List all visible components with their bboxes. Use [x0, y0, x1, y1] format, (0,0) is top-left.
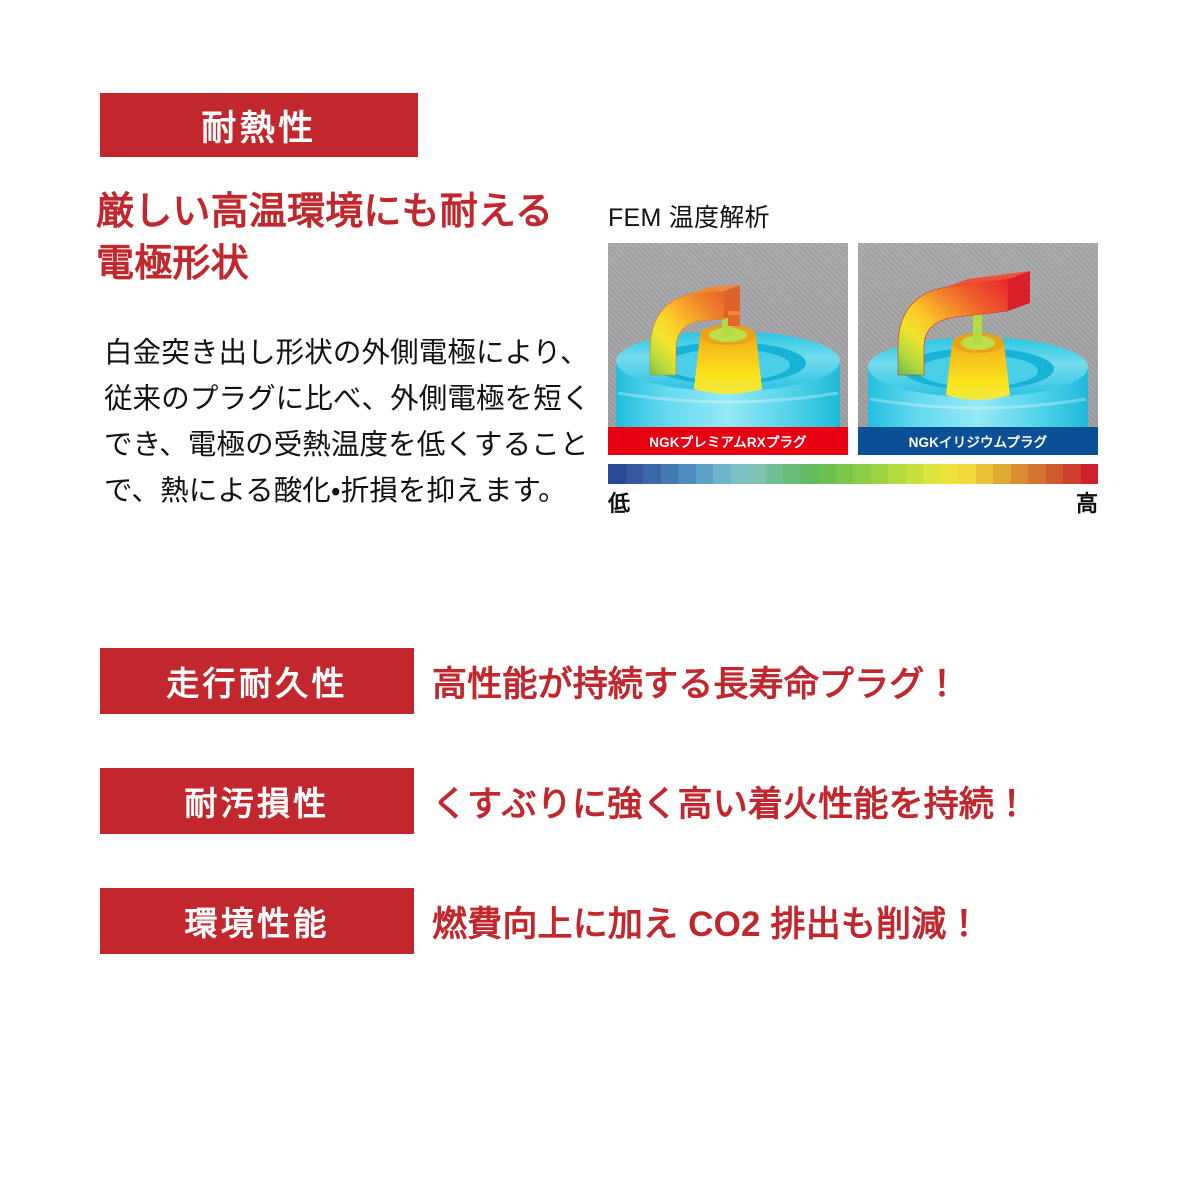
- scale-swatch-24: [1028, 464, 1046, 484]
- body-line-2: 従来のプラグに比べ、外側電極を短く: [104, 376, 594, 422]
- scale-swatch-10: [783, 464, 801, 484]
- body-line-3: でき、電極の受熱温度を低くすること: [104, 422, 594, 468]
- scale-swatch-5: [696, 464, 714, 484]
- feature-row-durability: 走行耐久性 高性能が持続する長寿命プラグ！: [100, 648, 960, 714]
- body-line-4: で、熱による酸化・折損を抑えます。: [104, 468, 594, 514]
- scale-swatch-25: [1046, 464, 1064, 484]
- scale-swatch-21: [976, 464, 994, 484]
- scale-swatch-12: [818, 464, 836, 484]
- temperature-scale: 低 高: [608, 464, 1098, 518]
- fem-panel-premium-rx: NGKプレミアムRXプラグ: [608, 243, 848, 455]
- feature-row-fouling-resistance: 耐汚損性 くすぶりに強く高い着火性能を持続！: [100, 768, 1029, 834]
- scale-swatch-23: [1011, 464, 1029, 484]
- fem-figure-caption: FEM 温度解析: [608, 198, 1098, 234]
- scale-swatch-4: [678, 464, 696, 484]
- spark-plug-thermal-render-rx: [608, 243, 848, 455]
- scale-swatch-27: [1081, 464, 1099, 484]
- feature-badge-environmental: 環境性能: [100, 888, 414, 954]
- scale-swatch-20: [958, 464, 976, 484]
- scale-swatch-18: [923, 464, 941, 484]
- scale-swatch-7: [731, 464, 749, 484]
- scale-low-label: 低: [608, 486, 630, 518]
- scale-swatch-0: [608, 464, 626, 484]
- scale-swatch-6: [713, 464, 731, 484]
- scale-swatch-8: [748, 464, 766, 484]
- feature-text-durability: 高性能が持続する長寿命プラグ！: [432, 656, 960, 707]
- feature-text-environmental: 燃費向上に加え CO2 排出も削減！: [432, 896, 982, 947]
- scale-swatch-3: [661, 464, 679, 484]
- scale-high-label: 高: [1076, 486, 1098, 518]
- feature-row-environmental: 環境性能 燃費向上に加え CO2 排出も削減！: [100, 888, 982, 954]
- scale-swatch-9: [766, 464, 784, 484]
- scale-swatch-11: [801, 464, 819, 484]
- scale-swatch-1: [626, 464, 644, 484]
- scale-swatch-26: [1063, 464, 1081, 484]
- fem-analysis-figure: FEM 温度解析: [608, 198, 1098, 518]
- scale-swatch-19: [941, 464, 959, 484]
- feature-text-fouling-resistance: くすぶりに強く高い着火性能を持続！: [432, 776, 1029, 827]
- heat-resistance-badge: 耐熱性: [100, 93, 418, 157]
- feature-badge-durability: 走行耐久性: [100, 648, 414, 714]
- scale-swatch-22: [993, 464, 1011, 484]
- temperature-scale-labels: 低 高: [608, 486, 1098, 518]
- headline-line-2: 電極形状: [96, 238, 596, 290]
- spark-plug-thermal-render-iridium: [858, 243, 1098, 455]
- scale-swatch-14: [853, 464, 871, 484]
- scale-swatch-2: [643, 464, 661, 484]
- scale-swatch-17: [906, 464, 924, 484]
- heat-resistance-headline: 厳しい高温環境にも耐える 電極形状: [96, 186, 596, 290]
- body-line-1: 白金突き出し形状の外側電極により、: [104, 330, 594, 376]
- heat-resistance-body-copy: 白金突き出し形状の外側電極により、 従来のプラグに比べ、外側電極を短く でき、電…: [104, 330, 594, 515]
- fem-panel-iridium: NGKイリジウムプラグ: [858, 243, 1098, 455]
- temperature-scale-bar: [608, 464, 1098, 484]
- fem-panel-banner-iridium: NGKイリジウムプラグ: [858, 427, 1098, 455]
- scale-swatch-13: [836, 464, 854, 484]
- scale-swatch-15: [871, 464, 889, 484]
- fem-panel-banner-premium-rx: NGKプレミアムRXプラグ: [608, 427, 848, 455]
- feature-badge-fouling-resistance: 耐汚損性: [100, 768, 414, 834]
- scale-swatch-16: [888, 464, 906, 484]
- headline-line-1: 厳しい高温環境にも耐える: [96, 186, 596, 238]
- fem-panel-group: NGKプレミアムRXプラグ: [608, 243, 1098, 455]
